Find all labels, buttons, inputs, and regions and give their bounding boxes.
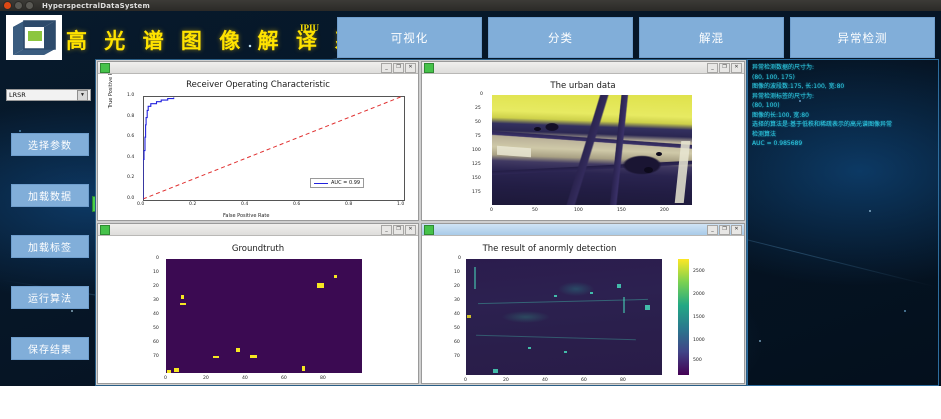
roc-ytick: 1.0 — [127, 93, 134, 98]
urban-ytick: 50 — [475, 120, 481, 125]
urban-data-panel: _ ❐ ✕ The urban data 0 25 50 75 — [421, 61, 745, 221]
close-icon[interactable] — [3, 1, 12, 10]
maximize-icon[interactable]: ❐ — [393, 63, 404, 73]
anomaly-panel-titlebar[interactable]: _ ❐ ✕ — [422, 224, 744, 236]
anomaly-hotspot — [467, 315, 471, 318]
info-line: 异常检测标签的尺寸为: — [752, 92, 934, 102]
anomaly-hotspot — [564, 351, 567, 353]
gt-ytick: 0 — [156, 256, 159, 261]
gt-xtick: 20 — [203, 376, 209, 381]
groundtruth-panel-controls[interactable]: _ ❐ ✕ — [381, 225, 416, 235]
legend-line-icon — [314, 183, 328, 184]
app-header: 高 光 谱 图 像 解 译 系 统 IPIU 可视化 分类 解混 异常检测 — [0, 11, 941, 59]
groundtruth-chart-title: Groundtruth — [98, 244, 418, 254]
anomaly-marker — [181, 295, 184, 299]
anomaly-xtick: 20 — [503, 378, 509, 383]
gt-ytick: 20 — [153, 284, 159, 289]
urban-image — [492, 95, 692, 205]
roc-xtick: 0.6 — [293, 202, 300, 207]
roc-xtick: 0.0 — [137, 202, 144, 207]
urban-dark-blob — [534, 127, 541, 131]
roc-chart-title: Receiver Operating Characteristic — [98, 80, 418, 90]
info-line: 检测算法 — [752, 130, 934, 140]
info-line-auc: AUC = 0.985689 — [752, 139, 934, 149]
maximize-icon[interactable]: ❐ — [719, 63, 730, 73]
window-controls[interactable] — [3, 1, 34, 10]
anomaly-xtick: 60 — [581, 378, 587, 383]
colorbar-tick: 1000 — [693, 338, 705, 343]
minimize-icon[interactable] — [14, 1, 23, 10]
minimize-icon[interactable]: _ — [707, 225, 718, 235]
urban-xtick: 150 — [617, 208, 626, 213]
load-data-button[interactable]: 加载数据 — [11, 184, 89, 207]
info-panel: 异常检测数据的尺寸为: (80, 100, 175) 图像的波段数:175, 长… — [747, 59, 939, 386]
roc-xlabel: False Positive Rate — [223, 213, 269, 219]
anomaly-marker — [174, 368, 179, 372]
roc-panel: _ ❐ ✕ Receiver Operating Characteristic … — [97, 61, 419, 221]
info-line: 图像的长:100, 宽:80 — [752, 111, 934, 121]
roc-panel-titlebar[interactable]: _ ❐ ✕ — [98, 62, 418, 74]
roc-xtick: 0.2 — [189, 202, 196, 207]
urban-ytick: 75 — [475, 134, 481, 139]
minimize-icon[interactable]: _ — [381, 63, 392, 73]
save-result-button[interactable]: 保存结果 — [11, 337, 89, 360]
info-line: 选择的算法是:基于低秩和稀疏表示的高光谱图像异常 — [752, 120, 934, 130]
cube-logo — [6, 15, 62, 60]
groundtruth-plot: Groundtruth 0 10 20 30 — [98, 236, 418, 383]
anomaly-xtick: 0 — [464, 378, 467, 383]
urban-ytick: 150 — [472, 176, 481, 181]
select-parameters-button[interactable]: 选择参数 — [11, 133, 89, 156]
algorithm-select[interactable]: LRSR ▼ — [6, 89, 91, 101]
colorbar-tick: 1500 — [693, 315, 705, 320]
urban-ytick: 25 — [475, 106, 481, 111]
roc-legend: AUC = 0.99 — [310, 178, 364, 188]
colorbar-tick: 500 — [693, 358, 702, 363]
urban-chart-title: The urban data — [422, 81, 744, 91]
roc-xtick: 1.0 — [397, 202, 404, 207]
urban-ytick: 125 — [472, 162, 481, 167]
gt-ytick: 10 — [153, 270, 159, 275]
maximize-icon[interactable]: ❐ — [719, 225, 730, 235]
anomaly-ytick: 30 — [454, 298, 460, 303]
anomaly-xtick: 80 — [620, 378, 626, 383]
nav-anomaly-detection[interactable]: 异常检测 — [790, 17, 935, 58]
roc-xtick: 0.4 — [241, 202, 248, 207]
roc-ytick: 0.2 — [127, 175, 134, 180]
anomaly-marker — [167, 370, 171, 373]
urban-highlight — [675, 141, 691, 203]
cube-logo-icon — [11, 19, 57, 57]
info-line: 异常检测数据的尺寸为: — [752, 63, 934, 73]
colorbar-tick: 2500 — [693, 269, 705, 274]
anomaly-ytick: 0 — [458, 256, 461, 261]
load-label-button[interactable]: 加载标签 — [11, 235, 89, 258]
os-title-bar: HyperspectralDataSystem — [0, 0, 941, 11]
urban-panel-titlebar[interactable]: _ ❐ ✕ — [422, 62, 744, 74]
roc-xtick: 0.8 — [345, 202, 352, 207]
groundtruth-panel-titlebar[interactable]: _ ❐ ✕ — [98, 224, 418, 236]
minimize-icon[interactable]: _ — [381, 225, 392, 235]
chart-window-icon — [424, 225, 434, 235]
anomaly-hotspot — [590, 292, 593, 294]
anomaly-panel-controls[interactable]: _ ❐ ✕ — [707, 225, 742, 235]
anomaly-hotspot — [528, 347, 531, 349]
nav-classification[interactable]: 分类 — [488, 17, 633, 58]
info-line: (80, 100, 175) — [752, 73, 934, 83]
maximize-icon[interactable]: ❐ — [393, 225, 404, 235]
info-line: 图像的波段数:175, 长:100, 宽:80 — [752, 82, 934, 92]
gt-ytick: 60 — [153, 340, 159, 345]
anomaly-marker — [302, 366, 305, 371]
sidebar: LRSR ▼ 选择参数 加载数据 加载标签 运行算法 保存结果 — [0, 59, 95, 386]
anomaly-chart-title: The result of anormly detection — [422, 244, 677, 254]
anomaly-hotspot — [493, 369, 498, 373]
anomaly-result-panel: _ ❐ ✕ The result of anormly detection — [421, 223, 745, 384]
anomaly-result-image — [466, 259, 662, 375]
anomaly-ytick: 70 — [454, 354, 460, 359]
anomaly-marker — [180, 303, 186, 305]
main-navigation: 可视化 分类 解混 异常检测 — [337, 17, 935, 58]
urban-dark-blob — [656, 152, 662, 156]
run-algorithm-button[interactable]: 运行算法 — [11, 286, 89, 309]
close-icon[interactable]: ✕ — [405, 63, 416, 73]
anomaly-marker — [334, 275, 337, 278]
groundtruth-image — [166, 259, 362, 373]
anomaly-ytick: 20 — [454, 284, 460, 289]
anomaly-ytick: 50 — [454, 326, 460, 331]
urban-plot: The urban data 0 25 50 75 100 125 150 17… — [422, 74, 744, 220]
maximize-icon[interactable] — [25, 1, 34, 10]
roc-ylabel: True Positive Rate — [108, 74, 114, 126]
anomaly-hotspot — [645, 305, 650, 310]
algorithm-select-value: LRSR — [9, 91, 77, 99]
roc-ytick: 0.8 — [127, 114, 134, 119]
info-line: (80, 100) — [752, 101, 934, 111]
anomaly-xtick: 40 — [542, 378, 548, 383]
urban-ytick: 100 — [472, 148, 481, 153]
urban-xtick: 100 — [574, 208, 583, 213]
anomaly-hotspot — [554, 295, 557, 297]
roc-plot: Receiver Operating Characteristic True P… — [98, 74, 418, 220]
mdi-area: _ ❐ ✕ Receiver Operating Characteristic … — [95, 59, 747, 386]
anomaly-streak — [476, 335, 636, 340]
anomaly-marker — [250, 355, 257, 358]
chart-window-icon — [424, 63, 434, 73]
gt-ytick: 40 — [153, 312, 159, 317]
roc-legend-label: AUC = 0.99 — [331, 180, 360, 186]
roc-ytick: 0.0 — [127, 196, 134, 201]
urban-dark-blob — [644, 167, 653, 173]
close-icon[interactable]: ✕ — [731, 225, 742, 235]
urban-xtick: 50 — [532, 208, 538, 213]
close-icon[interactable]: ✕ — [731, 63, 742, 73]
anomaly-colorbar — [678, 259, 689, 375]
urban-ytick: 175 — [472, 190, 481, 195]
roc-ytick: 0.4 — [127, 155, 134, 160]
colorbar-tick: 2000 — [693, 292, 705, 297]
gt-xtick: 0 — [164, 376, 167, 381]
gt-xtick: 60 — [281, 376, 287, 381]
gt-xtick: 40 — [242, 376, 248, 381]
urban-xtick: 200 — [660, 208, 669, 213]
brand-superscript: IPIU — [300, 23, 319, 33]
anomaly-ytick: 10 — [454, 270, 460, 275]
os-window-title: HyperspectralDataSystem — [42, 2, 150, 10]
gt-ytick: 30 — [153, 298, 159, 303]
urban-highlight — [497, 146, 531, 157]
anomaly-marker — [317, 283, 324, 288]
urban-ytick: 0 — [480, 92, 483, 97]
urban-panel-controls[interactable]: _ ❐ ✕ — [707, 63, 742, 73]
anomaly-ytick: 60 — [454, 340, 460, 345]
nav-visualization[interactable]: 可视化 — [337, 17, 482, 58]
chart-window-icon — [100, 225, 110, 235]
anomaly-hotspot — [617, 284, 621, 288]
anomaly-plot: The result of anormly detection — [422, 236, 744, 383]
minimize-icon[interactable]: _ — [707, 63, 718, 73]
application-window: HyperspectralDataSystem 高 光 谱 图 像 解 译 系 … — [0, 0, 941, 386]
chart-window-icon — [100, 63, 110, 73]
gt-ytick: 50 — [153, 326, 159, 331]
chevron-down-icon[interactable]: ▼ — [77, 90, 88, 101]
roc-panel-controls[interactable]: _ ❐ ✕ — [381, 63, 416, 73]
anomaly-ytick: 40 — [454, 312, 460, 317]
nav-unmixing[interactable]: 解混 — [639, 17, 784, 58]
close-icon[interactable]: ✕ — [405, 225, 416, 235]
anomaly-marker — [213, 356, 219, 358]
gt-xtick: 80 — [320, 376, 326, 381]
anomaly-marker — [236, 348, 240, 352]
anomaly-streak — [474, 267, 476, 289]
urban-xtick: 0 — [490, 208, 493, 213]
groundtruth-panel: _ ❐ ✕ Groundtruth — [97, 223, 419, 384]
roc-ytick: 0.6 — [127, 134, 134, 139]
gt-ytick: 70 — [153, 354, 159, 359]
